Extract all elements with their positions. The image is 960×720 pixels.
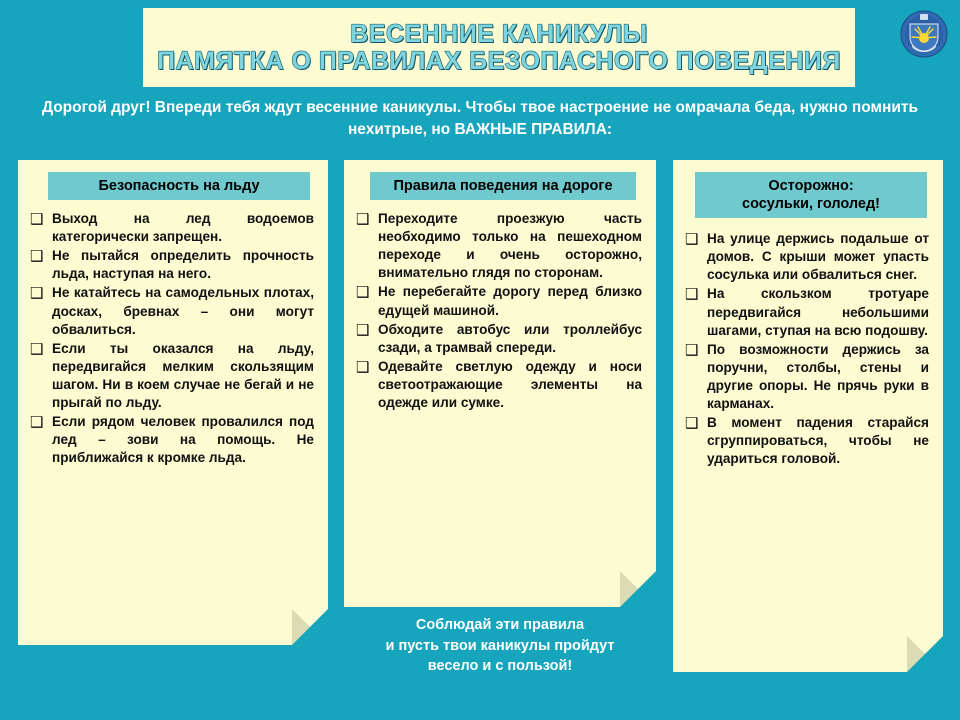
list-item: ❑ По возможности держись за поручни, сто… — [685, 341, 929, 413]
rule-text: Если ты оказался на льду, передвигайся м… — [52, 340, 314, 412]
checkbox-icon: ❑ — [356, 283, 376, 303]
corner-fold-cut — [620, 571, 656, 607]
rule-text: Обходите автобус или троллейбус сзади, а… — [378, 321, 642, 357]
list-item: ❑ Если рядом человек провалился под лед … — [30, 413, 314, 467]
checkbox-icon: ❑ — [30, 340, 50, 360]
list-item: ❑ Не пытайся определить прочность льда, … — [30, 247, 314, 283]
list-item: ❑ Не перебегайте дорогу перед близко еду… — [356, 283, 642, 319]
poster-title-line-1: ВЕСЕННИЕ КАНИКУЛЫ — [350, 21, 648, 47]
rule-text: Одевайте светлую одежду и носи светоотра… — [378, 358, 642, 412]
poster-title-line-2: ПАМЯТКА О ПРАВИЛАХ БЕЗОПАСНОГО ПОВЕДЕНИЯ — [157, 48, 841, 74]
list-item: ❑ Переходите проезжую часть необходимо т… — [356, 210, 642, 282]
rule-text: Если рядом человек провалился под лед – … — [52, 413, 314, 467]
checkbox-icon: ❑ — [356, 210, 376, 230]
checkbox-icon: ❑ — [685, 230, 705, 250]
card-header-icicles-blackice: Осторожно: сосульки, гололед! — [695, 172, 927, 218]
checkbox-icon: ❑ — [30, 247, 50, 267]
list-item: ❑ На скользком тротуаре передвигайся неб… — [685, 285, 929, 339]
poster-subtitle: Дорогой друг! Впереди тебя ждут весенние… — [30, 97, 930, 142]
list-item: ❑ На улице держись подальше от домов. С … — [685, 230, 929, 284]
card-header-ice-safety: Безопасность на льду — [48, 172, 310, 200]
corner-fold-cut — [292, 609, 328, 645]
checkbox-icon: ❑ — [356, 321, 376, 341]
rule-text: Не катайтесь на самодельных плотах, доск… — [52, 284, 314, 338]
card-header-road-rules: Правила поведения на дороге — [370, 172, 636, 200]
list-item: ❑ Обходите автобус или троллейбус сзади,… — [356, 321, 642, 357]
checkbox-icon: ❑ — [30, 210, 50, 230]
list-item: ❑ В момент падения старайся сгруппироват… — [685, 414, 929, 468]
checkbox-icon: ❑ — [685, 414, 705, 434]
checkbox-icon: ❑ — [30, 284, 50, 304]
rule-text: В момент падения старайся сгруппироватьс… — [707, 414, 929, 468]
rule-list-icicles-blackice: ❑ На улице держись подальше от домов. С … — [685, 230, 929, 468]
checkbox-icon: ❑ — [356, 358, 376, 378]
rule-text: Переходите проезжую часть необходимо тол… — [378, 210, 642, 282]
rule-list-ice-safety: ❑ Выход на лед водоемов категорически за… — [30, 210, 314, 467]
card-ice-safety: Безопасность на льду ❑ Выход на лед водо… — [18, 160, 328, 645]
checkbox-icon: ❑ — [685, 285, 705, 305]
rule-text: Не перебегайте дорогу перед близко едуще… — [378, 283, 642, 319]
rule-text: Не пытайся определить прочность льда, на… — [52, 247, 314, 283]
corner-fold-cut — [907, 636, 943, 672]
checkbox-icon: ❑ — [30, 413, 50, 433]
rule-text: По возможности держись за поручни, столб… — [707, 341, 929, 413]
card-icicles-blackice: Осторожно: сосульки, гололед! ❑ На улице… — [673, 160, 943, 672]
list-item: ❑ Выход на лед водоемов категорически за… — [30, 210, 314, 246]
rule-text: На улице держись подальше от домов. С кр… — [707, 230, 929, 284]
rule-list-road-rules: ❑ Переходите проезжую часть необходимо т… — [356, 210, 642, 412]
rule-text: На скользком тротуаре передвигайся небол… — [707, 285, 929, 339]
card-road-rules: Правила поведения на дороге ❑ Переходите… — [344, 160, 656, 607]
list-item: ❑ Если ты оказался на льду, передвигайся… — [30, 340, 314, 412]
list-item: ❑ Не катайтесь на самодельных плотах, до… — [30, 284, 314, 338]
rule-text: Выход на лед водоемов категорически запр… — [52, 210, 314, 246]
title-banner: ВЕСЕННИЕ КАНИКУЛЫ ПАМЯТКА О ПРАВИЛАХ БЕЗ… — [143, 8, 855, 87]
poster-footer: Соблюдай эти правила и пусть твои канику… — [344, 615, 656, 677]
administration-seal-emblem — [900, 10, 948, 58]
checkbox-icon: ❑ — [685, 341, 705, 361]
list-item: ❑ Одевайте светлую одежду и носи светоот… — [356, 358, 642, 412]
